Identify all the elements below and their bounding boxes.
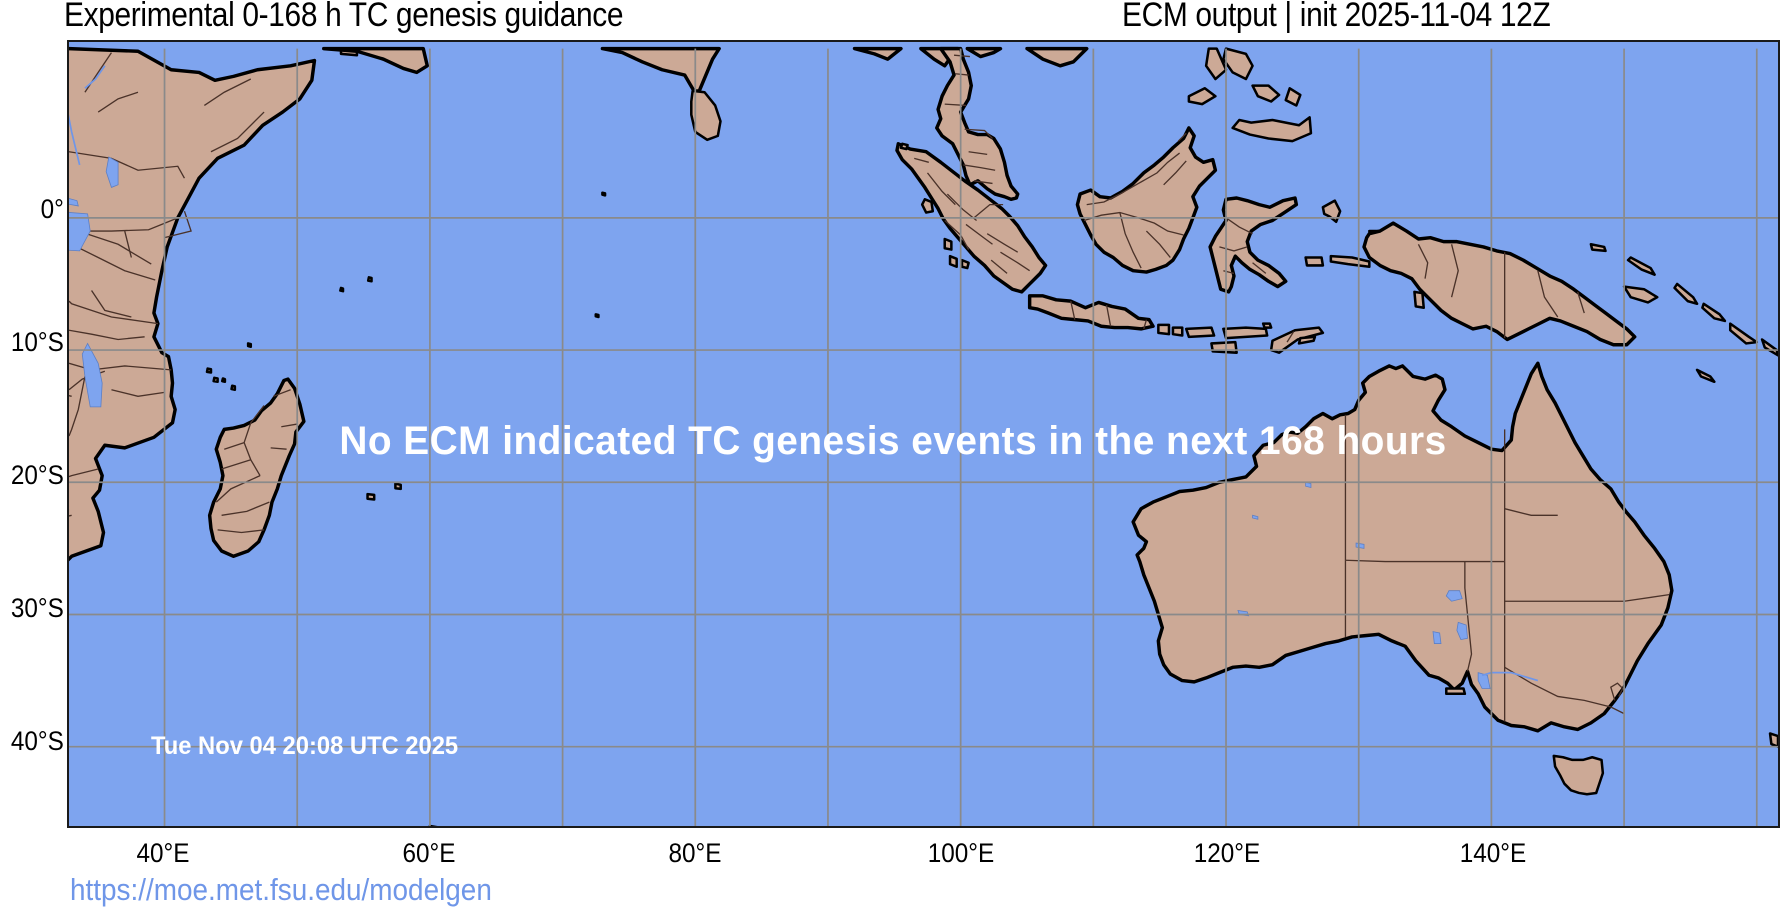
header-bar: Experimental 0-168 h TC genesis guidance… xyxy=(0,0,1786,40)
ytick-label: 20°S xyxy=(11,460,64,491)
ytick-label: 0° xyxy=(41,194,64,225)
xtick-label: 80°E xyxy=(668,838,721,869)
xtick-label: 60°E xyxy=(402,838,455,869)
generation-timestamp: Tue Nov 04 20:08 UTC 2025 xyxy=(151,732,458,761)
xtick-label: 140°E xyxy=(1459,838,1525,869)
model-init-label: ECM output | init 2025-11-04 12Z xyxy=(1122,0,1550,35)
ytick-label: 10°S xyxy=(11,327,64,358)
no-genesis-message: No ECM indicated TC genesis events in th… xyxy=(27,419,1759,464)
ytick-label: 30°S xyxy=(11,593,64,624)
page-title: Experimental 0-168 h TC genesis guidance xyxy=(64,0,623,35)
source-url-link[interactable]: https://moe.met.fsu.edu/modelgen xyxy=(70,872,492,908)
xtick-label: 120°E xyxy=(1193,838,1259,869)
xtick-label: 40°E xyxy=(136,838,189,869)
xtick-label: 100°E xyxy=(927,838,993,869)
ytick-label: 40°S xyxy=(11,726,64,757)
